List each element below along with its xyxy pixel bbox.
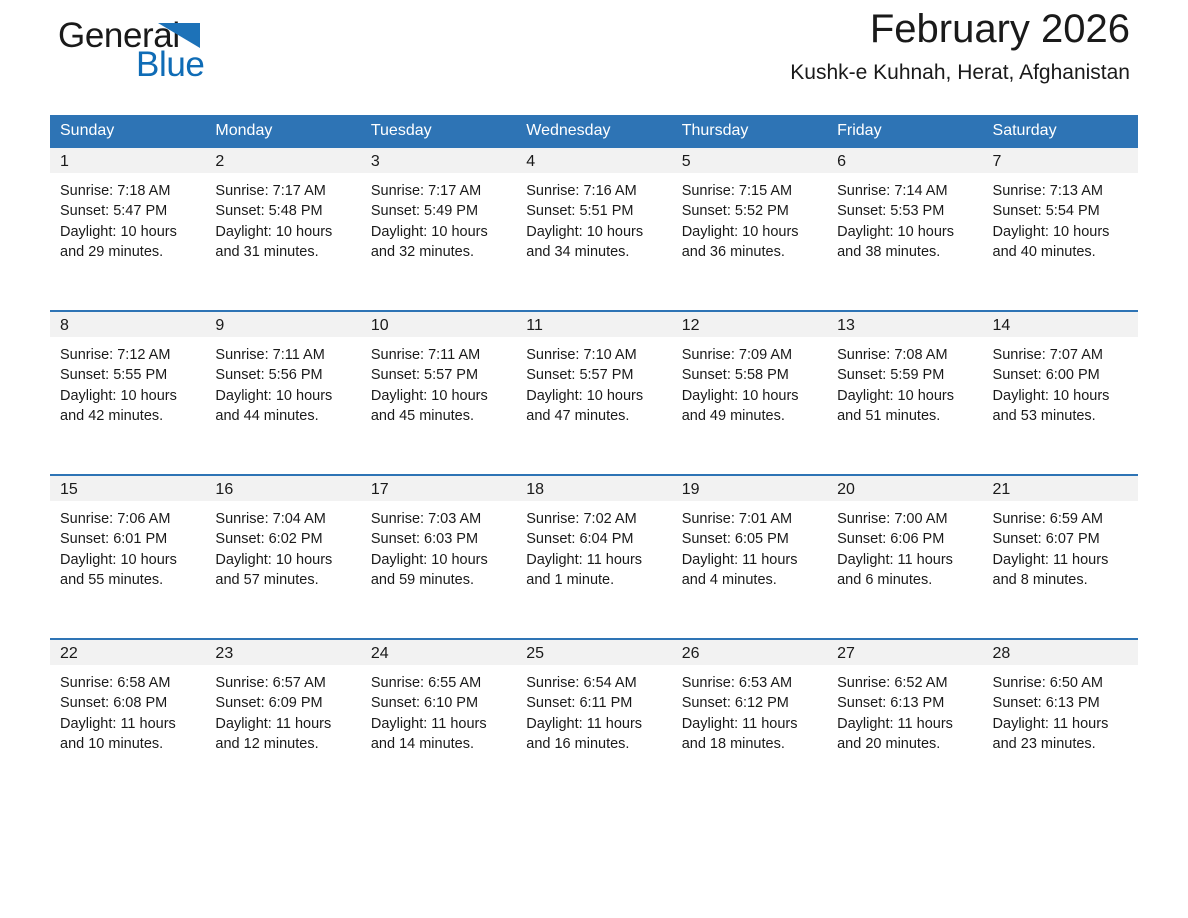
calendar-week-row: 22Sunrise: 6:58 AMSunset: 6:08 PMDayligh… [50, 639, 1138, 802]
daylight-duration-line1: Daylight: 10 hours [837, 222, 974, 242]
day-number: 13 [827, 312, 982, 337]
sunset-time: Sunset: 6:12 PM [682, 693, 819, 713]
sunrise-time: Sunrise: 7:08 AM [837, 345, 974, 365]
daylight-duration-line2: and 29 minutes. [60, 242, 197, 262]
sunrise-time: Sunrise: 7:07 AM [993, 345, 1130, 365]
day-sun-details: Sunrise: 7:02 AMSunset: 6:04 PMDaylight:… [516, 501, 671, 590]
sunrise-time: Sunrise: 6:58 AM [60, 673, 197, 693]
daylight-duration-line2: and 45 minutes. [371, 406, 508, 426]
sunrise-time: Sunrise: 7:01 AM [682, 509, 819, 529]
day-cell-content: 15Sunrise: 7:06 AMSunset: 6:01 PMDayligh… [50, 476, 205, 638]
day-cell-content: 11Sunrise: 7:10 AMSunset: 5:57 PMDayligh… [516, 312, 671, 474]
day-sun-details: Sunrise: 7:08 AMSunset: 5:59 PMDaylight:… [827, 337, 982, 426]
sunrise-time: Sunrise: 7:13 AM [993, 181, 1130, 201]
day-cell-content: 22Sunrise: 6:58 AMSunset: 6:08 PMDayligh… [50, 640, 205, 802]
daylight-duration-line2: and 53 minutes. [993, 406, 1130, 426]
daylight-duration-line2: and 14 minutes. [371, 734, 508, 754]
sunset-time: Sunset: 6:04 PM [526, 529, 663, 549]
calendar-day-cell[interactable]: 18Sunrise: 7:02 AMSunset: 6:04 PMDayligh… [516, 475, 671, 639]
day-number: 25 [516, 640, 671, 665]
title-block: February 2026 Kushk-e Kuhnah, Herat, Afg… [790, 4, 1130, 85]
sunrise-time: Sunrise: 7:16 AM [526, 181, 663, 201]
daylight-duration-line1: Daylight: 10 hours [215, 386, 352, 406]
calendar-day-cell[interactable]: 21Sunrise: 6:59 AMSunset: 6:07 PMDayligh… [983, 475, 1138, 639]
day-cell-content: 7Sunrise: 7:13 AMSunset: 5:54 PMDaylight… [983, 148, 1138, 310]
day-sun-details: Sunrise: 7:15 AMSunset: 5:52 PMDaylight:… [672, 173, 827, 262]
day-sun-details: Sunrise: 6:55 AMSunset: 6:10 PMDaylight:… [361, 665, 516, 754]
day-number: 15 [50, 476, 205, 501]
sunset-time: Sunset: 5:55 PM [60, 365, 197, 385]
sunset-time: Sunset: 6:05 PM [682, 529, 819, 549]
day-number: 9 [205, 312, 360, 337]
daylight-duration-line2: and 10 minutes. [60, 734, 197, 754]
day-number: 7 [983, 148, 1138, 173]
sunrise-time: Sunrise: 7:11 AM [215, 345, 352, 365]
calendar-week-row: 8Sunrise: 7:12 AMSunset: 5:55 PMDaylight… [50, 311, 1138, 475]
daylight-duration-line2: and 1 minute. [526, 570, 663, 590]
calendar-day-cell[interactable]: 6Sunrise: 7:14 AMSunset: 5:53 PMDaylight… [827, 148, 982, 311]
daylight-duration-line2: and 4 minutes. [682, 570, 819, 590]
weekday-header-wednesday: Wednesday [516, 115, 671, 148]
day-sun-details: Sunrise: 7:10 AMSunset: 5:57 PMDaylight:… [516, 337, 671, 426]
calendar-day-cell[interactable]: 16Sunrise: 7:04 AMSunset: 6:02 PMDayligh… [205, 475, 360, 639]
calendar-day-cell[interactable]: 3Sunrise: 7:17 AMSunset: 5:49 PMDaylight… [361, 148, 516, 311]
daylight-duration-line2: and 34 minutes. [526, 242, 663, 262]
calendar-day-cell[interactable]: 9Sunrise: 7:11 AMSunset: 5:56 PMDaylight… [205, 311, 360, 475]
day-number: 18 [516, 476, 671, 501]
sunrise-time: Sunrise: 7:10 AM [526, 345, 663, 365]
day-sun-details: Sunrise: 6:53 AMSunset: 6:12 PMDaylight:… [672, 665, 827, 754]
day-number: 23 [205, 640, 360, 665]
sunset-time: Sunset: 5:57 PM [371, 365, 508, 385]
sunrise-time: Sunrise: 7:18 AM [60, 181, 197, 201]
day-sun-details: Sunrise: 7:17 AMSunset: 5:49 PMDaylight:… [361, 173, 516, 262]
sunset-time: Sunset: 6:03 PM [371, 529, 508, 549]
daylight-duration-line2: and 20 minutes. [837, 734, 974, 754]
daylight-duration-line1: Daylight: 10 hours [993, 222, 1130, 242]
calendar-day-cell[interactable]: 19Sunrise: 7:01 AMSunset: 6:05 PMDayligh… [672, 475, 827, 639]
day-cell-content: 9Sunrise: 7:11 AMSunset: 5:56 PMDaylight… [205, 312, 360, 474]
daylight-duration-line2: and 51 minutes. [837, 406, 974, 426]
day-number: 19 [672, 476, 827, 501]
day-sun-details: Sunrise: 7:06 AMSunset: 6:01 PMDaylight:… [50, 501, 205, 590]
day-cell-content: 14Sunrise: 7:07 AMSunset: 6:00 PMDayligh… [983, 312, 1138, 474]
daylight-duration-line1: Daylight: 10 hours [371, 386, 508, 406]
day-sun-details: Sunrise: 7:18 AMSunset: 5:47 PMDaylight:… [50, 173, 205, 262]
calendar-day-cell[interactable]: 7Sunrise: 7:13 AMSunset: 5:54 PMDaylight… [983, 148, 1138, 311]
daylight-duration-line2: and 23 minutes. [993, 734, 1130, 754]
day-cell-content: 1Sunrise: 7:18 AMSunset: 5:47 PMDaylight… [50, 148, 205, 310]
day-number: 1 [50, 148, 205, 173]
sunset-time: Sunset: 5:58 PM [682, 365, 819, 385]
sunrise-time: Sunrise: 7:15 AM [682, 181, 819, 201]
day-cell-content: 24Sunrise: 6:55 AMSunset: 6:10 PMDayligh… [361, 640, 516, 802]
daylight-duration-line2: and 32 minutes. [371, 242, 508, 262]
sunset-time: Sunset: 5:51 PM [526, 201, 663, 221]
calendar-week-row: 15Sunrise: 7:06 AMSunset: 6:01 PMDayligh… [50, 475, 1138, 639]
daylight-duration-line2: and 55 minutes. [60, 570, 197, 590]
sunrise-time: Sunrise: 7:09 AM [682, 345, 819, 365]
daylight-duration-line1: Daylight: 11 hours [60, 714, 197, 734]
day-number: 14 [983, 312, 1138, 337]
day-number: 22 [50, 640, 205, 665]
day-number: 2 [205, 148, 360, 173]
day-number: 3 [361, 148, 516, 173]
day-cell-content: 2Sunrise: 7:17 AMSunset: 5:48 PMDaylight… [205, 148, 360, 310]
daylight-duration-line1: Daylight: 11 hours [837, 714, 974, 734]
daylight-duration-line1: Daylight: 10 hours [215, 222, 352, 242]
daylight-duration-line2: and 49 minutes. [682, 406, 819, 426]
calendar-day-cell[interactable]: 22Sunrise: 6:58 AMSunset: 6:08 PMDayligh… [50, 639, 205, 802]
sunset-time: Sunset: 5:52 PM [682, 201, 819, 221]
sunrise-time: Sunrise: 6:50 AM [993, 673, 1130, 693]
day-cell-content: 8Sunrise: 7:12 AMSunset: 5:55 PMDaylight… [50, 312, 205, 474]
day-cell-content: 20Sunrise: 7:00 AMSunset: 6:06 PMDayligh… [827, 476, 982, 638]
calendar-day-cell[interactable]: 25Sunrise: 6:54 AMSunset: 6:11 PMDayligh… [516, 639, 671, 802]
daylight-duration-line2: and 6 minutes. [837, 570, 974, 590]
day-cell-content: 12Sunrise: 7:09 AMSunset: 5:58 PMDayligh… [672, 312, 827, 474]
day-number: 17 [361, 476, 516, 501]
weekday-header-saturday: Saturday [983, 115, 1138, 148]
weekday-header-monday: Monday [205, 115, 360, 148]
calendar-day-cell[interactable]: 17Sunrise: 7:03 AMSunset: 6:03 PMDayligh… [361, 475, 516, 639]
sunrise-time: Sunrise: 7:00 AM [837, 509, 974, 529]
daylight-duration-line2: and 16 minutes. [526, 734, 663, 754]
daylight-duration-line2: and 44 minutes. [215, 406, 352, 426]
weekday-header-tuesday: Tuesday [361, 115, 516, 148]
general-blue-logo[interactable]: General Blue [58, 16, 358, 106]
sunset-time: Sunset: 6:01 PM [60, 529, 197, 549]
sunrise-time: Sunrise: 7:14 AM [837, 181, 974, 201]
day-number: 24 [361, 640, 516, 665]
calendar-day-cell[interactable]: 2Sunrise: 7:17 AMSunset: 5:48 PMDaylight… [205, 148, 360, 311]
sunset-time: Sunset: 6:09 PM [215, 693, 352, 713]
calendar-day-cell[interactable]: 8Sunrise: 7:12 AMSunset: 5:55 PMDaylight… [50, 311, 205, 475]
day-sun-details: Sunrise: 7:17 AMSunset: 5:48 PMDaylight:… [205, 173, 360, 262]
sunset-time: Sunset: 5:59 PM [837, 365, 974, 385]
sunrise-time: Sunrise: 7:03 AM [371, 509, 508, 529]
day-sun-details: Sunrise: 6:59 AMSunset: 6:07 PMDaylight:… [983, 501, 1138, 590]
daylight-duration-line1: Daylight: 10 hours [993, 386, 1130, 406]
sunrise-time: Sunrise: 6:52 AM [837, 673, 974, 693]
day-cell-content: 5Sunrise: 7:15 AMSunset: 5:52 PMDaylight… [672, 148, 827, 310]
sunset-time: Sunset: 5:53 PM [837, 201, 974, 221]
calendar-day-cell[interactable]: 15Sunrise: 7:06 AMSunset: 6:01 PMDayligh… [50, 475, 205, 639]
day-number: 5 [672, 148, 827, 173]
sunrise-sunset-calendar: Sunday Monday Tuesday Wednesday Thursday… [50, 115, 1138, 802]
sunset-time: Sunset: 6:11 PM [526, 693, 663, 713]
sunrise-time: Sunrise: 6:57 AM [215, 673, 352, 693]
weekday-header-thursday: Thursday [672, 115, 827, 148]
calendar-day-cell[interactable]: 24Sunrise: 6:55 AMSunset: 6:10 PMDayligh… [361, 639, 516, 802]
daylight-duration-line2: and 36 minutes. [682, 242, 819, 262]
weekday-header-friday: Friday [827, 115, 982, 148]
calendar-day-cell[interactable]: 5Sunrise: 7:15 AMSunset: 5:52 PMDaylight… [672, 148, 827, 311]
daylight-duration-line2: and 57 minutes. [215, 570, 352, 590]
sunset-time: Sunset: 5:48 PM [215, 201, 352, 221]
day-number: 4 [516, 148, 671, 173]
daylight-duration-line1: Daylight: 10 hours [371, 222, 508, 242]
day-cell-content: 23Sunrise: 6:57 AMSunset: 6:09 PMDayligh… [205, 640, 360, 802]
page-header: General Blue February 2026 Kushk-e Kuhna… [50, 0, 1138, 115]
calendar-day-cell[interactable]: 28Sunrise: 6:50 AMSunset: 6:13 PMDayligh… [983, 639, 1138, 802]
daylight-duration-line1: Daylight: 11 hours [837, 550, 974, 570]
day-cell-content: 3Sunrise: 7:17 AMSunset: 5:49 PMDaylight… [361, 148, 516, 310]
day-number: 10 [361, 312, 516, 337]
daylight-duration-line1: Daylight: 11 hours [526, 550, 663, 570]
day-number: 11 [516, 312, 671, 337]
day-sun-details: Sunrise: 7:16 AMSunset: 5:51 PMDaylight:… [516, 173, 671, 262]
sunrise-time: Sunrise: 6:53 AM [682, 673, 819, 693]
location-subtitle: Kushk-e Kuhnah, Herat, Afghanistan [790, 60, 1130, 85]
day-number: 28 [983, 640, 1138, 665]
day-cell-content: 13Sunrise: 7:08 AMSunset: 5:59 PMDayligh… [827, 312, 982, 474]
day-sun-details: Sunrise: 7:14 AMSunset: 5:53 PMDaylight:… [827, 173, 982, 262]
sunrise-time: Sunrise: 6:54 AM [526, 673, 663, 693]
day-number: 26 [672, 640, 827, 665]
daylight-duration-line2: and 8 minutes. [993, 570, 1130, 590]
daylight-duration-line2: and 40 minutes. [993, 242, 1130, 262]
day-number: 12 [672, 312, 827, 337]
day-cell-content: 4Sunrise: 7:16 AMSunset: 5:51 PMDaylight… [516, 148, 671, 310]
day-cell-content: 19Sunrise: 7:01 AMSunset: 6:05 PMDayligh… [672, 476, 827, 638]
day-cell-content: 26Sunrise: 6:53 AMSunset: 6:12 PMDayligh… [672, 640, 827, 802]
sunset-time: Sunset: 6:07 PM [993, 529, 1130, 549]
calendar-header-row: Sunday Monday Tuesday Wednesday Thursday… [50, 115, 1138, 148]
daylight-duration-line1: Daylight: 10 hours [682, 222, 819, 242]
day-cell-content: 10Sunrise: 7:11 AMSunset: 5:57 PMDayligh… [361, 312, 516, 474]
daylight-duration-line1: Daylight: 11 hours [371, 714, 508, 734]
calendar-day-cell[interactable]: 14Sunrise: 7:07 AMSunset: 6:00 PMDayligh… [983, 311, 1138, 475]
day-cell-content: 21Sunrise: 6:59 AMSunset: 6:07 PMDayligh… [983, 476, 1138, 638]
calendar-day-cell[interactable]: 23Sunrise: 6:57 AMSunset: 6:09 PMDayligh… [205, 639, 360, 802]
sunset-time: Sunset: 6:13 PM [837, 693, 974, 713]
daylight-duration-line2: and 42 minutes. [60, 406, 197, 426]
sunrise-time: Sunrise: 7:12 AM [60, 345, 197, 365]
daylight-duration-line2: and 31 minutes. [215, 242, 352, 262]
daylight-duration-line1: Daylight: 11 hours [526, 714, 663, 734]
sunset-time: Sunset: 5:49 PM [371, 201, 508, 221]
calendar-day-cell[interactable]: 1Sunrise: 7:18 AMSunset: 5:47 PMDaylight… [50, 148, 205, 311]
day-cell-content: 25Sunrise: 6:54 AMSunset: 6:11 PMDayligh… [516, 640, 671, 802]
calendar-day-cell[interactable]: 13Sunrise: 7:08 AMSunset: 5:59 PMDayligh… [827, 311, 982, 475]
calendar-day-cell[interactable]: 11Sunrise: 7:10 AMSunset: 5:57 PMDayligh… [516, 311, 671, 475]
sunrise-time: Sunrise: 6:55 AM [371, 673, 508, 693]
daylight-duration-line2: and 38 minutes. [837, 242, 974, 262]
sunset-time: Sunset: 5:56 PM [215, 365, 352, 385]
day-cell-content: 17Sunrise: 7:03 AMSunset: 6:03 PMDayligh… [361, 476, 516, 638]
calendar-day-cell[interactable]: 12Sunrise: 7:09 AMSunset: 5:58 PMDayligh… [672, 311, 827, 475]
sunset-time: Sunset: 6:10 PM [371, 693, 508, 713]
sunset-time: Sunset: 6:00 PM [993, 365, 1130, 385]
day-sun-details: Sunrise: 7:12 AMSunset: 5:55 PMDaylight:… [50, 337, 205, 426]
daylight-duration-line1: Daylight: 11 hours [993, 550, 1130, 570]
calendar-day-cell[interactable]: 26Sunrise: 6:53 AMSunset: 6:12 PMDayligh… [672, 639, 827, 802]
day-sun-details: Sunrise: 7:11 AMSunset: 5:57 PMDaylight:… [361, 337, 516, 426]
day-cell-content: 18Sunrise: 7:02 AMSunset: 6:04 PMDayligh… [516, 476, 671, 638]
day-sun-details: Sunrise: 7:11 AMSunset: 5:56 PMDaylight:… [205, 337, 360, 426]
sunrise-time: Sunrise: 6:59 AM [993, 509, 1130, 529]
daylight-duration-line1: Daylight: 10 hours [60, 386, 197, 406]
sunset-time: Sunset: 6:06 PM [837, 529, 974, 549]
daylight-duration-line1: Daylight: 10 hours [60, 222, 197, 242]
daylight-duration-line2: and 18 minutes. [682, 734, 819, 754]
day-sun-details: Sunrise: 6:58 AMSunset: 6:08 PMDaylight:… [50, 665, 205, 754]
day-number: 21 [983, 476, 1138, 501]
sunset-time: Sunset: 6:02 PM [215, 529, 352, 549]
sunrise-time: Sunrise: 7:17 AM [371, 181, 508, 201]
calendar-week-row: 1Sunrise: 7:18 AMSunset: 5:47 PMDaylight… [50, 148, 1138, 311]
day-sun-details: Sunrise: 7:13 AMSunset: 5:54 PMDaylight:… [983, 173, 1138, 262]
day-number: 8 [50, 312, 205, 337]
calendar-page: General Blue February 2026 Kushk-e Kuhna… [0, 0, 1188, 918]
day-sun-details: Sunrise: 7:01 AMSunset: 6:05 PMDaylight:… [672, 501, 827, 590]
sunrise-time: Sunrise: 7:02 AM [526, 509, 663, 529]
day-cell-content: 6Sunrise: 7:14 AMSunset: 5:53 PMDaylight… [827, 148, 982, 310]
daylight-duration-line1: Daylight: 10 hours [526, 386, 663, 406]
day-number: 6 [827, 148, 982, 173]
day-sun-details: Sunrise: 7:00 AMSunset: 6:06 PMDaylight:… [827, 501, 982, 590]
daylight-duration-line2: and 59 minutes. [371, 570, 508, 590]
sunrise-time: Sunrise: 7:17 AM [215, 181, 352, 201]
daylight-duration-line1: Daylight: 10 hours [682, 386, 819, 406]
sunrise-time: Sunrise: 7:04 AM [215, 509, 352, 529]
day-number: 16 [205, 476, 360, 501]
sunset-time: Sunset: 6:08 PM [60, 693, 197, 713]
day-sun-details: Sunrise: 7:03 AMSunset: 6:03 PMDaylight:… [361, 501, 516, 590]
sunrise-time: Sunrise: 7:06 AM [60, 509, 197, 529]
daylight-duration-line1: Daylight: 11 hours [215, 714, 352, 734]
daylight-duration-line1: Daylight: 10 hours [215, 550, 352, 570]
daylight-duration-line2: and 12 minutes. [215, 734, 352, 754]
logo-text-blue: Blue [136, 45, 204, 85]
calendar-day-cell[interactable]: 4Sunrise: 7:16 AMSunset: 5:51 PMDaylight… [516, 148, 671, 311]
daylight-duration-line1: Daylight: 10 hours [371, 550, 508, 570]
day-cell-content: 28Sunrise: 6:50 AMSunset: 6:13 PMDayligh… [983, 640, 1138, 802]
sunset-time: Sunset: 5:54 PM [993, 201, 1130, 221]
daylight-duration-line1: Daylight: 10 hours [837, 386, 974, 406]
sunset-time: Sunset: 5:47 PM [60, 201, 197, 221]
day-number: 20 [827, 476, 982, 501]
day-number: 27 [827, 640, 982, 665]
day-sun-details: Sunrise: 7:09 AMSunset: 5:58 PMDaylight:… [672, 337, 827, 426]
daylight-duration-line1: Daylight: 11 hours [682, 550, 819, 570]
calendar-day-cell[interactable]: 27Sunrise: 6:52 AMSunset: 6:13 PMDayligh… [827, 639, 982, 802]
day-sun-details: Sunrise: 6:50 AMSunset: 6:13 PMDaylight:… [983, 665, 1138, 754]
calendar-day-cell[interactable]: 20Sunrise: 7:00 AMSunset: 6:06 PMDayligh… [827, 475, 982, 639]
sunset-time: Sunset: 5:57 PM [526, 365, 663, 385]
calendar-body: 1Sunrise: 7:18 AMSunset: 5:47 PMDaylight… [50, 148, 1138, 802]
daylight-duration-line1: Daylight: 11 hours [993, 714, 1130, 734]
weekday-header-sunday: Sunday [50, 115, 205, 148]
day-sun-details: Sunrise: 6:52 AMSunset: 6:13 PMDaylight:… [827, 665, 982, 754]
calendar-day-cell[interactable]: 10Sunrise: 7:11 AMSunset: 5:57 PMDayligh… [361, 311, 516, 475]
daylight-duration-line1: Daylight: 11 hours [682, 714, 819, 734]
day-sun-details: Sunrise: 6:54 AMSunset: 6:11 PMDaylight:… [516, 665, 671, 754]
sunset-time: Sunset: 6:13 PM [993, 693, 1130, 713]
day-cell-content: 27Sunrise: 6:52 AMSunset: 6:13 PMDayligh… [827, 640, 982, 802]
day-sun-details: Sunrise: 7:07 AMSunset: 6:00 PMDaylight:… [983, 337, 1138, 426]
page-title: February 2026 [790, 4, 1130, 54]
day-sun-details: Sunrise: 6:57 AMSunset: 6:09 PMDaylight:… [205, 665, 360, 754]
daylight-duration-line1: Daylight: 10 hours [526, 222, 663, 242]
daylight-duration-line2: and 47 minutes. [526, 406, 663, 426]
day-sun-details: Sunrise: 7:04 AMSunset: 6:02 PMDaylight:… [205, 501, 360, 590]
day-cell-content: 16Sunrise: 7:04 AMSunset: 6:02 PMDayligh… [205, 476, 360, 638]
sunrise-time: Sunrise: 7:11 AM [371, 345, 508, 365]
daylight-duration-line1: Daylight: 10 hours [60, 550, 197, 570]
